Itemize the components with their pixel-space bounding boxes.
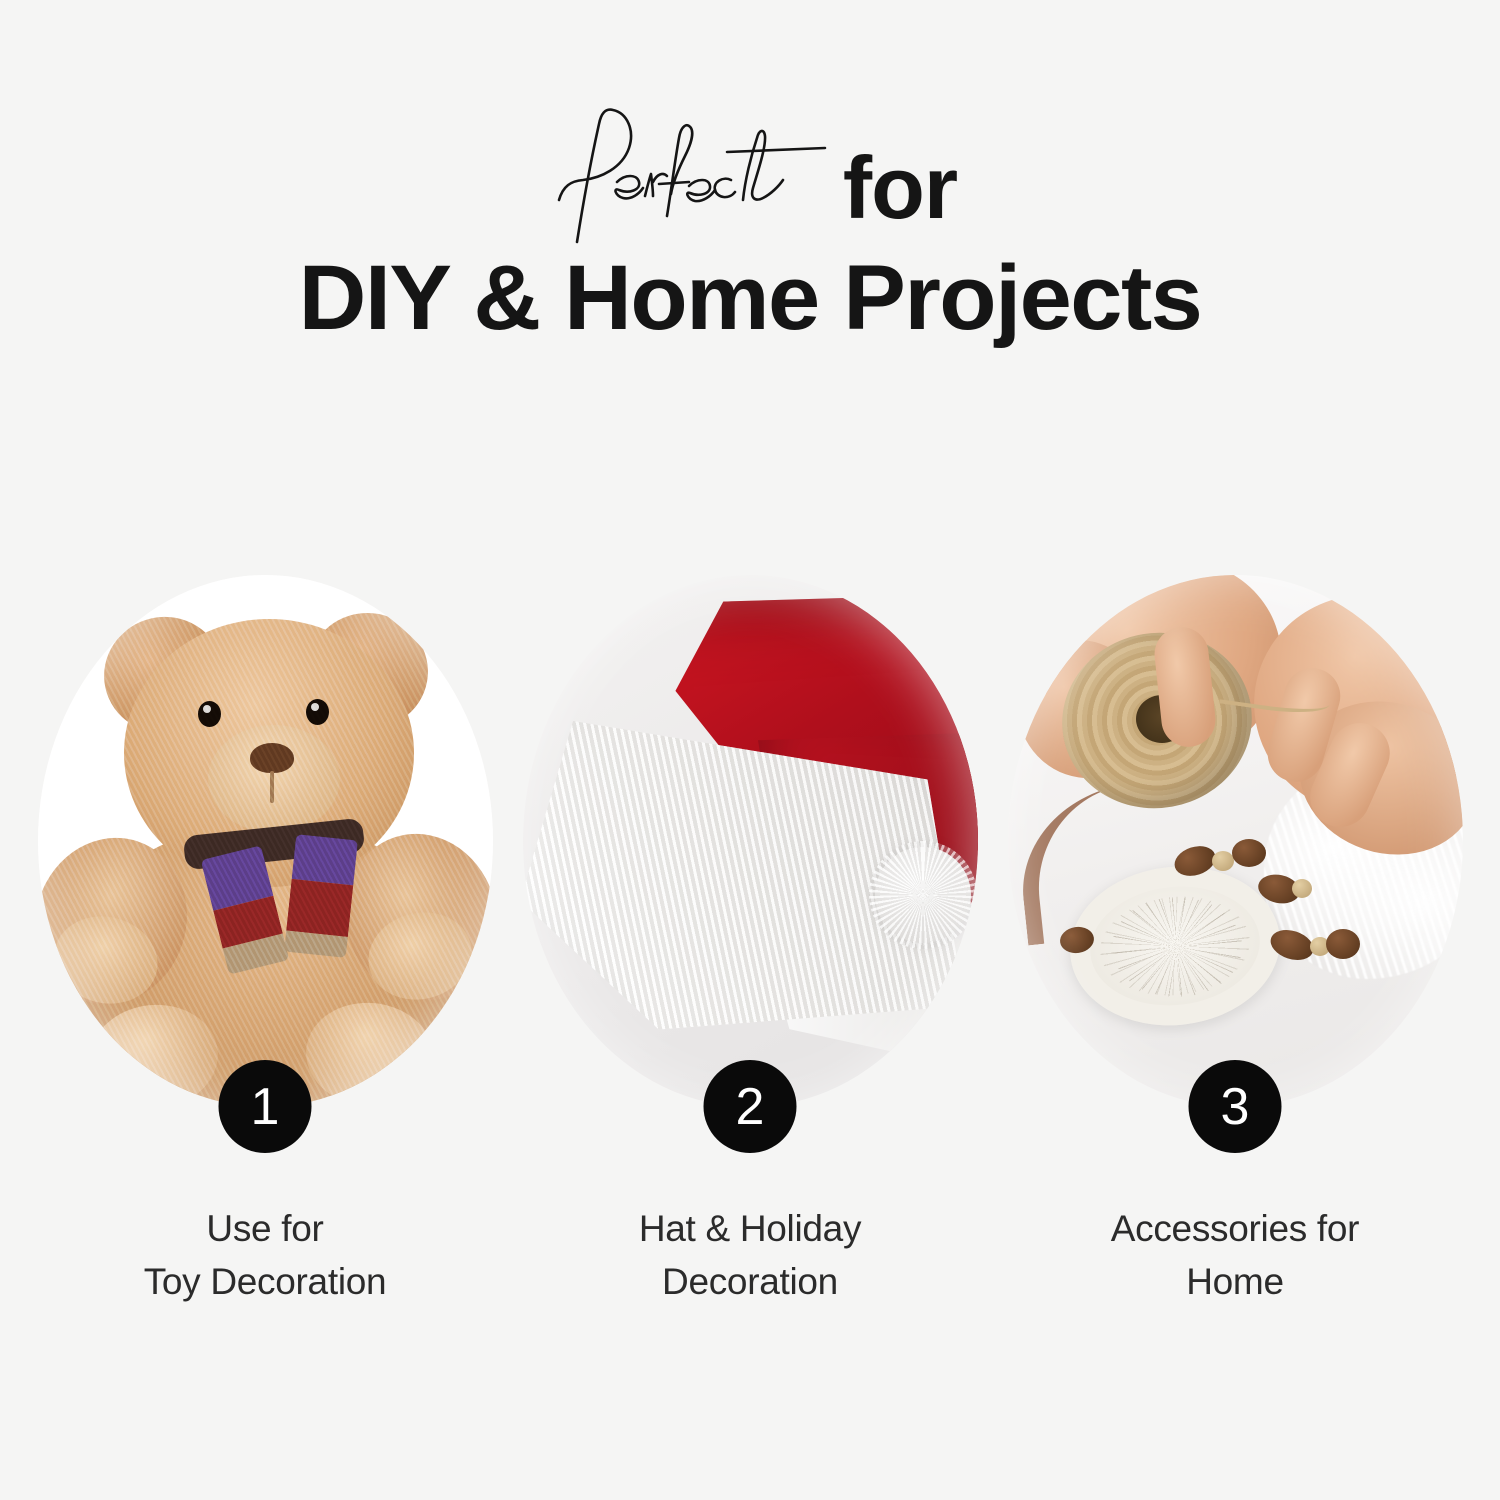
wooden-bead bbox=[1232, 839, 1266, 867]
feature-card-2[interactable]: 2 Hat & Holiday Decoration bbox=[523, 575, 978, 1308]
wooden-bead bbox=[1326, 929, 1360, 959]
headline-block: for DIY & Home Projects bbox=[0, 108, 1500, 344]
headline-line-2: DIY & Home Projects bbox=[0, 252, 1500, 344]
photo-santa-hat bbox=[523, 575, 978, 1107]
step-badge-2: 2 bbox=[704, 1060, 797, 1153]
photo-wrap-1: 1 bbox=[38, 575, 493, 1107]
bear-mouth-icon bbox=[270, 771, 274, 803]
headline-word-for: for bbox=[843, 147, 957, 230]
craft-illustration bbox=[1008, 575, 1463, 1107]
photo-teddy-bear bbox=[38, 575, 493, 1107]
step-badge-1: 1 bbox=[219, 1060, 312, 1153]
teddy-bear-illustration bbox=[38, 575, 493, 1107]
dreamcatcher-web bbox=[1112, 897, 1242, 997]
bear-muzzle-icon bbox=[208, 725, 340, 833]
feature-card-3[interactable]: 3 Accessories for Home bbox=[1008, 575, 1463, 1308]
feature-cards-row: 1 Use for Toy Decoration 2 Hat & Holiday bbox=[0, 575, 1500, 1308]
card-caption-3: Accessories for Home bbox=[1111, 1203, 1359, 1308]
santa-hat-pompom bbox=[875, 847, 971, 943]
photo-wrap-3: 3 bbox=[1008, 575, 1463, 1107]
photo-wrap-2: 2 bbox=[523, 575, 978, 1107]
bear-nose-icon bbox=[250, 743, 294, 773]
wooden-bead bbox=[1212, 851, 1234, 871]
photo-craft-dreamcatcher bbox=[1008, 575, 1463, 1107]
script-word-perfect bbox=[543, 104, 843, 244]
bear-scarf-tail-right bbox=[284, 834, 358, 958]
card-caption-1: Use for Toy Decoration bbox=[144, 1203, 387, 1308]
card-caption-2: Hat & Holiday Decoration bbox=[639, 1203, 861, 1308]
step-badge-3: 3 bbox=[1189, 1060, 1282, 1153]
bear-eye-left-icon bbox=[198, 701, 221, 727]
feature-card-1[interactable]: 1 Use for Toy Decoration bbox=[38, 575, 493, 1308]
headline-line-1: for bbox=[0, 108, 1500, 238]
bear-eye-right-icon bbox=[306, 699, 329, 725]
santa-hat-illustration bbox=[523, 575, 978, 1107]
wooden-bead bbox=[1292, 879, 1312, 898]
